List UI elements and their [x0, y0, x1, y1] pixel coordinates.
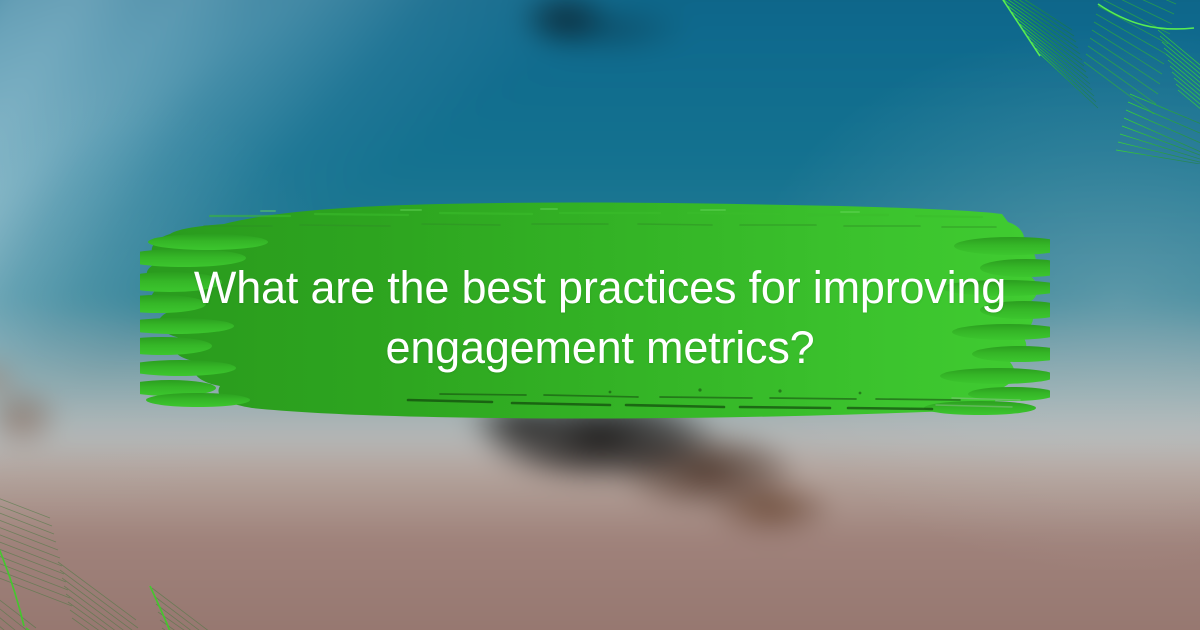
page-title: What are the best practices for improvin…: [160, 258, 1040, 378]
social-card: What are the best practices for improvin…: [0, 0, 1200, 630]
